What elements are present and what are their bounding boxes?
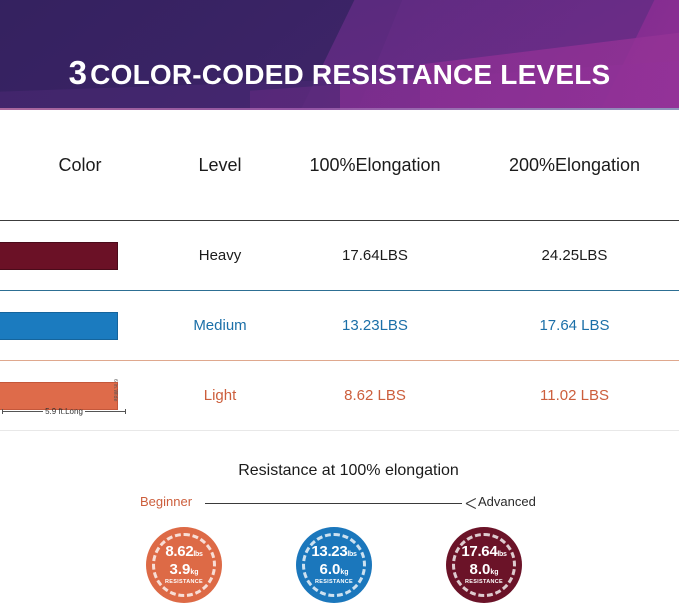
- badge-lbs-value: 13.23: [311, 543, 347, 560]
- table-row: 6 in.Wide 5.9 ft.Long Light 8.62 LBS 11.…: [0, 361, 679, 430]
- badge-caption: RESISTANCE: [315, 580, 353, 586]
- dimension-line-right: [85, 411, 125, 412]
- header-banner: 3COLOR-CODED RESISTANCE LEVELS: [0, 0, 679, 110]
- resistance-scale: Resistance at 100% elongation Beginner A…: [0, 462, 679, 514]
- elongation-200-medium: 17.64 LBS: [470, 317, 679, 334]
- scale-axis: Beginner Advanced: [0, 492, 679, 514]
- elongation-100-light: 8.62 LBS: [280, 387, 470, 404]
- table-header-row: Color Level 100%Elongation 200%Elongatio…: [0, 110, 679, 220]
- dimension-cap-right: [125, 409, 126, 414]
- badge-lbs-line: 13.23lbs: [311, 544, 356, 559]
- badge-kg-line: 8.0kg: [469, 562, 498, 577]
- elongation-200-light: 11.02 LBS: [470, 387, 679, 404]
- page-title: 3COLOR-CODED RESISTANCE LEVELS: [0, 54, 679, 92]
- badge-lbs-value: 17.64: [461, 543, 497, 560]
- badge-lbs-unit: lbs: [347, 551, 356, 558]
- badge-lbs-line: 17.64lbs: [461, 544, 506, 559]
- scale-label-advanced: Advanced: [478, 494, 536, 509]
- resistance-badge-heavy: 17.64lbs 8.0kg RESISTANCE: [446, 527, 522, 603]
- badge-kg-unit: kg: [190, 569, 198, 576]
- arrow-right-icon: [455, 496, 466, 508]
- color-swatch-heavy: [0, 242, 118, 270]
- badge-kg-line: 6.0kg: [319, 562, 348, 577]
- color-swatch-light: [0, 382, 118, 410]
- column-header-level: Level: [160, 155, 280, 176]
- badge-kg-value: 3.9: [169, 561, 190, 578]
- banner-count: 3: [69, 54, 88, 91]
- dimension-length-label: 5.9 ft.Long: [43, 407, 85, 416]
- level-medium: Medium: [160, 317, 280, 334]
- badge-content: 8.62lbs 3.9kg RESISTANCE: [146, 527, 222, 603]
- dimension-length-annotation: 5.9 ft.Long: [2, 407, 126, 416]
- resistance-table: Color Level 100%Elongation 200%Elongatio…: [0, 110, 679, 431]
- color-swatch-cell-medium: [0, 291, 160, 360]
- resistance-badge-medium: 13.23lbs 6.0kg RESISTANCE: [296, 527, 372, 603]
- column-header-elongation-200: 200%Elongation: [470, 155, 679, 176]
- badge-kg-line: 3.9kg: [169, 562, 198, 577]
- badge-kg-value: 6.0: [319, 561, 340, 578]
- badge-kg-unit: kg: [340, 569, 348, 576]
- column-header-color: Color: [0, 155, 160, 176]
- badge-content: 17.64lbs 8.0kg RESISTANCE: [446, 527, 522, 603]
- table-row: Heavy 17.64LBS 24.25LBS: [0, 221, 679, 290]
- badge-lbs-unit: lbs: [497, 551, 506, 558]
- color-swatch-cell-heavy: [0, 221, 160, 290]
- badge-caption: RESISTANCE: [165, 580, 203, 586]
- resistance-badge-light: 8.62lbs 3.9kg RESISTANCE: [146, 527, 222, 603]
- column-header-elongation-100: 100%Elongation: [280, 155, 470, 176]
- level-light: Light: [160, 387, 280, 404]
- scale-label-beginner: Beginner: [140, 494, 192, 509]
- color-swatch-medium: [0, 312, 118, 340]
- badge-content: 13.23lbs 6.0kg RESISTANCE: [296, 527, 372, 603]
- color-swatch-cell-light: 6 in.Wide 5.9 ft.Long: [0, 361, 160, 430]
- table-divider-bottom: [0, 430, 679, 431]
- badge-lbs-unit: lbs: [193, 551, 202, 558]
- badge-kg-value: 8.0: [469, 561, 490, 578]
- table-row: Medium 13.23LBS 17.64 LBS: [0, 291, 679, 360]
- badge-caption: RESISTANCE: [465, 580, 503, 586]
- dimension-width-label: 6 in.Wide: [112, 379, 118, 402]
- elongation-100-medium: 13.23LBS: [280, 317, 470, 334]
- elongation-200-heavy: 24.25LBS: [470, 247, 679, 264]
- dimension-line-left: [3, 411, 43, 412]
- badge-kg-unit: kg: [490, 569, 498, 576]
- level-heavy: Heavy: [160, 247, 280, 264]
- scale-axis-line: [205, 503, 462, 504]
- scale-title: Resistance at 100% elongation: [18, 462, 679, 480]
- elongation-100-heavy: 17.64LBS: [280, 247, 470, 264]
- badge-lbs-value: 8.62: [165, 543, 193, 560]
- banner-title-text: COLOR-CODED RESISTANCE LEVELS: [90, 59, 610, 90]
- badge-lbs-line: 8.62lbs: [165, 544, 202, 559]
- resistance-badges: 8.62lbs 3.9kg RESISTANCE 13.23lbs 6.0kg …: [0, 527, 679, 603]
